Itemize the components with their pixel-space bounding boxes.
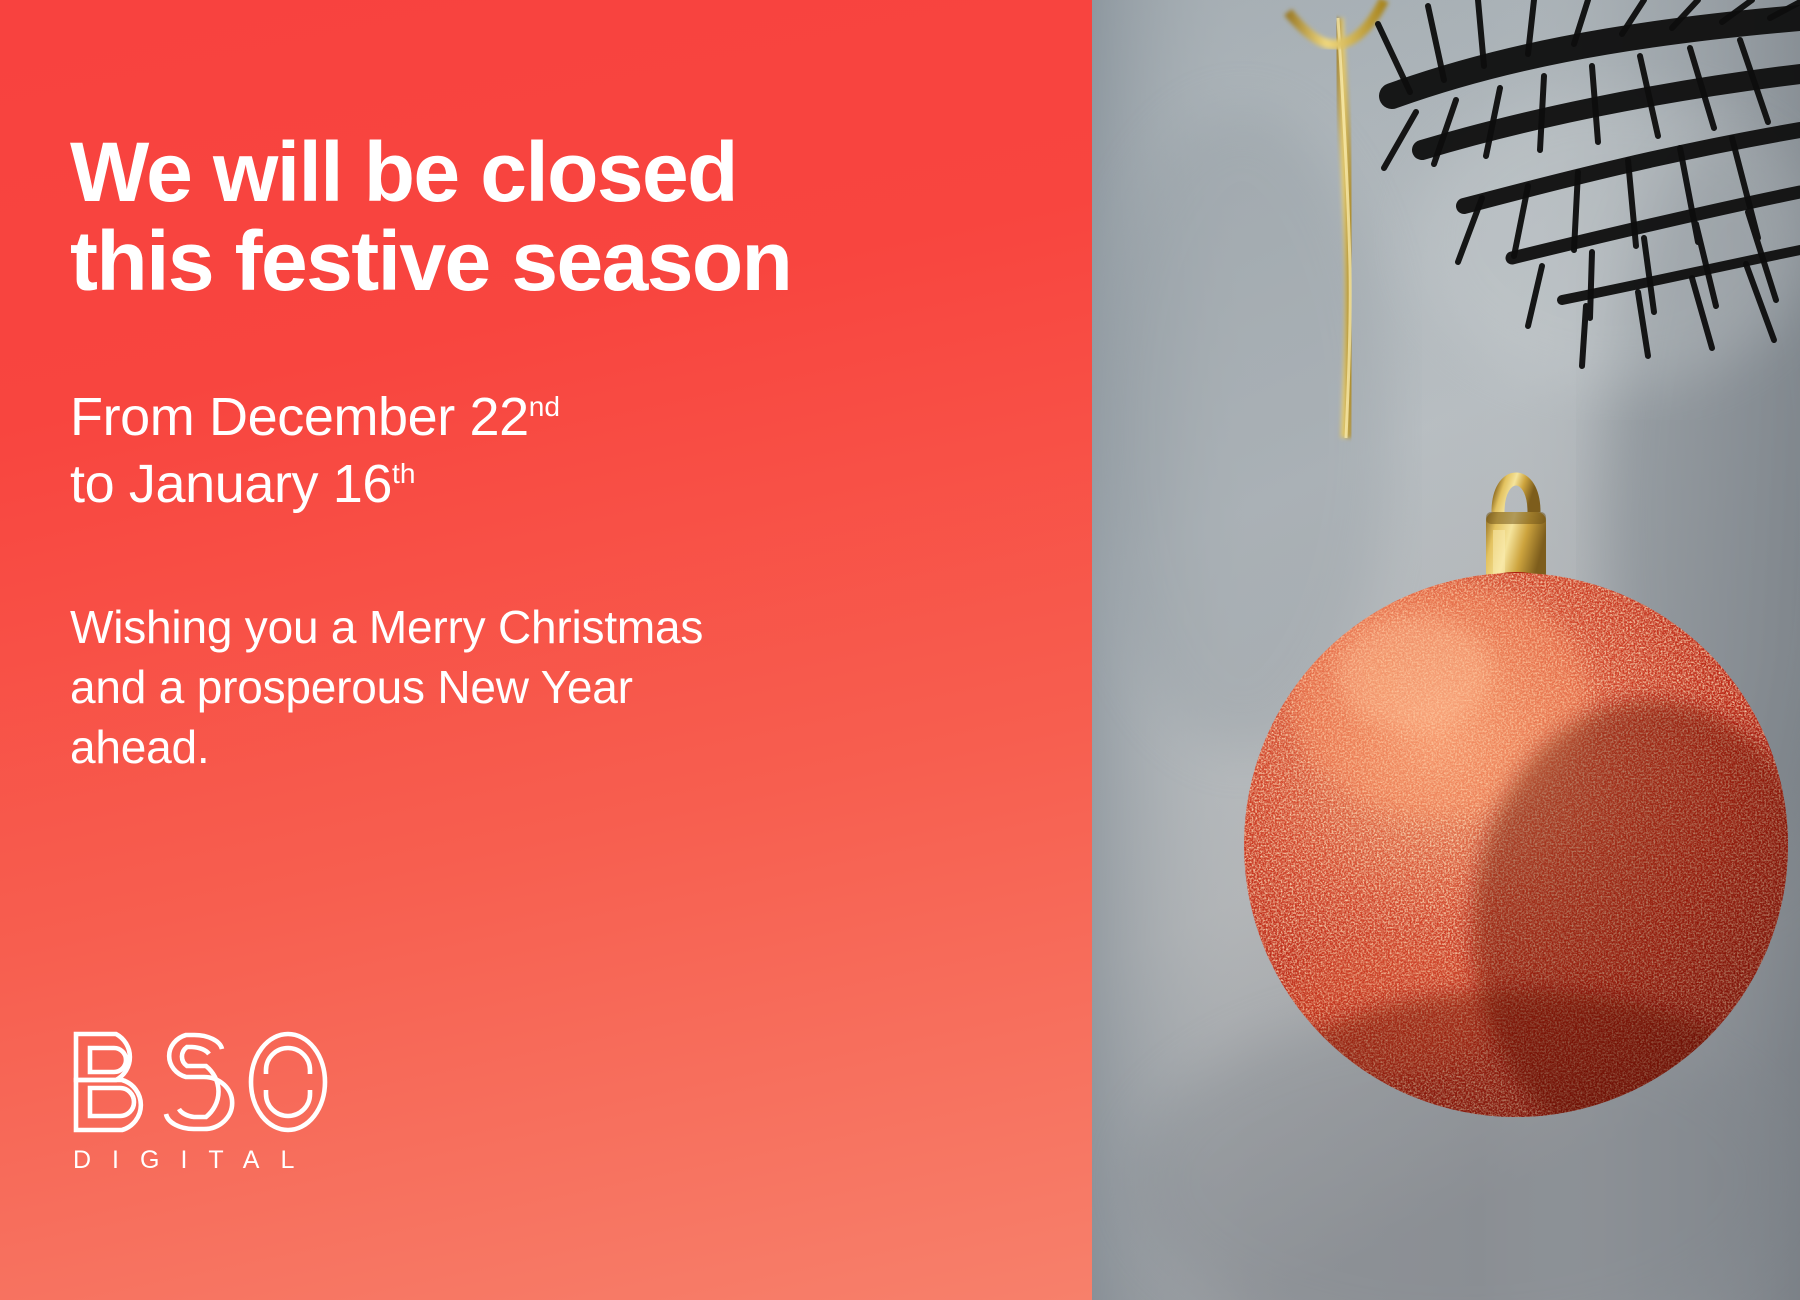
message-panel: We will be closed this festive season Fr… <box>0 0 1092 1300</box>
bauble-photo-image <box>1092 0 1800 1300</box>
bso-logo-icon <box>70 1030 330 1134</box>
closure-start-date: From December 22nd <box>70 384 1092 451</box>
wishes-line-3: ahead. <box>70 718 970 778</box>
to-prefix: to January <box>70 454 333 514</box>
wishes-line-1: Wishing you a Merry Christmas <box>70 598 970 658</box>
wishes-line-2: and a prosperous New Year <box>70 658 970 718</box>
closure-end-date: to January 16th <box>70 451 1092 518</box>
from-ordinal-suffix: nd <box>529 391 560 422</box>
brand-logo: DIGITAL <box>70 1030 330 1173</box>
to-day: 16 <box>333 454 392 514</box>
festive-closure-announcement-card: We will be closed this festive season Fr… <box>0 0 1800 1300</box>
headline-line-2: this festive season <box>70 217 970 306</box>
closure-dates: From December 22nd to January 16th <box>70 384 1092 518</box>
christmas-bauble-photo <box>1092 0 1800 1300</box>
page-title: We will be closed this festive season <box>70 128 970 306</box>
from-day: 22 <box>469 387 528 447</box>
to-ordinal-suffix: th <box>392 458 415 489</box>
from-prefix: From December <box>70 387 469 447</box>
brand-wordmark: DIGITAL <box>70 1148 330 1173</box>
headline-line-1: We will be closed <box>70 128 970 217</box>
seasonal-wishes: Wishing you a Merry Christmas and a pros… <box>70 598 970 777</box>
